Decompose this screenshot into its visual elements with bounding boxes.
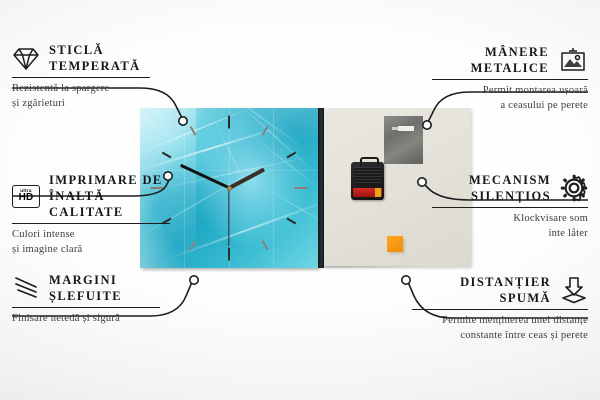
callout-title-line2: ÎNALTĂ CALITATE: [49, 188, 182, 220]
clock-tick: [190, 126, 197, 136]
callout-subtitle-line2: și zgârieturi: [12, 97, 162, 111]
callout-margini-slefuite: MARGINI ȘLEFUITE Finisare netedă și sigu…: [12, 272, 172, 327]
clock-tick: [295, 187, 308, 189]
polished-edges-icon: [12, 276, 40, 300]
clock-tick: [228, 248, 230, 261]
callout-subtitle-line1: Culori intense: [12, 228, 182, 242]
clock-tick: [287, 152, 297, 159]
clock-pivot: [227, 186, 232, 191]
callout-title-line1: MÂNERE: [471, 44, 549, 60]
clock-tick: [228, 116, 230, 129]
callout-title-line2: TEMPERATĂ: [49, 58, 141, 74]
clock-tick: [262, 126, 269, 136]
callout-title-line1: IMPRIMARE DE: [49, 172, 182, 188]
callout-mecanism-silentios: MECANISM SILENȚIOS: [420, 172, 588, 241]
foam-spacer-part: [387, 236, 403, 252]
callout-rule: [12, 77, 150, 78]
picture-frame-hanging-icon: [558, 47, 588, 73]
callout-title-line1: MARGINI: [49, 272, 122, 288]
callout-rule: [12, 223, 170, 224]
connector-dot: [190, 276, 198, 284]
callout-title-line2: ȘLEFUITE: [49, 288, 122, 304]
callout-title-line1: MECANISM: [469, 172, 551, 188]
callout-imprimare-inalta-calitate: ultra HD IMPRIMARE DE ÎNALTĂ CALITATE Cu…: [12, 172, 182, 257]
callout-rule: [432, 207, 588, 208]
callout-title-line2: SILENȚIOS: [469, 188, 551, 204]
callout-subtitle-line1: Permite menținerea unei distanțe: [402, 314, 588, 328]
callout-rule: [432, 79, 588, 80]
hour-hand: [228, 168, 265, 190]
product-feature-infographic: STICLĂ TEMPERATĂ Rezistentă la spargere …: [0, 0, 600, 400]
callout-title-line2: METALICE: [471, 60, 549, 76]
metal-hanger-part: [384, 116, 423, 164]
clock-tick: [287, 218, 297, 225]
diamond-icon: [12, 46, 40, 71]
minute-hand: [179, 164, 229, 190]
clock-tick: [262, 240, 269, 250]
callout-rule: [12, 307, 160, 308]
callout-manere-metalice: MÂNERE METALICE Permit montarea ușoară a…: [420, 44, 588, 113]
callout-subtitle-line2: a ceasului pe perete: [420, 99, 588, 113]
ultra-hd-icon-main: HD: [19, 193, 34, 203]
down-arrow-layer-icon: [560, 277, 588, 304]
callout-subtitle-line1: Permit montarea ușoară: [420, 84, 588, 98]
second-hand: [228, 188, 229, 246]
hanger-slot: [398, 126, 414, 131]
ultra-hd-icon: ultra HD: [12, 185, 40, 208]
callout-subtitle-line2: inte låter: [420, 227, 588, 241]
callout-sticla-temperata: STICLĂ TEMPERATĂ Rezistentă la spargere …: [12, 42, 162, 111]
callout-subtitle-line1: Finisare netedă și sigură: [12, 312, 172, 326]
clock-tick: [162, 152, 172, 159]
clock-tick: [190, 240, 197, 250]
callout-rule: [412, 309, 588, 310]
callout-subtitle-line1: Rezistentă la spargere: [12, 82, 162, 96]
gear-icon: [560, 174, 588, 202]
movement-ribs: [354, 167, 381, 185]
clock-movement-part: [351, 162, 384, 200]
movement-hook: [360, 157, 379, 166]
callout-subtitle-line2: și imagine clară: [12, 243, 182, 257]
callout-subtitle-line1: Klockvisare som: [420, 212, 588, 226]
callout-title-line2: SPUMĂ: [460, 290, 551, 306]
callout-subtitle-line2: constante între ceas și perete: [402, 329, 588, 343]
callout-title-line1: DISTANȚIER: [460, 274, 551, 290]
battery-terminal: [375, 188, 381, 197]
battery-part: [353, 188, 382, 197]
callout-title-line1: STICLĂ: [49, 42, 141, 58]
callout-distantier-spuma: DISTANȚIER SPUMĂ Permite menținerea unei…: [402, 274, 588, 343]
